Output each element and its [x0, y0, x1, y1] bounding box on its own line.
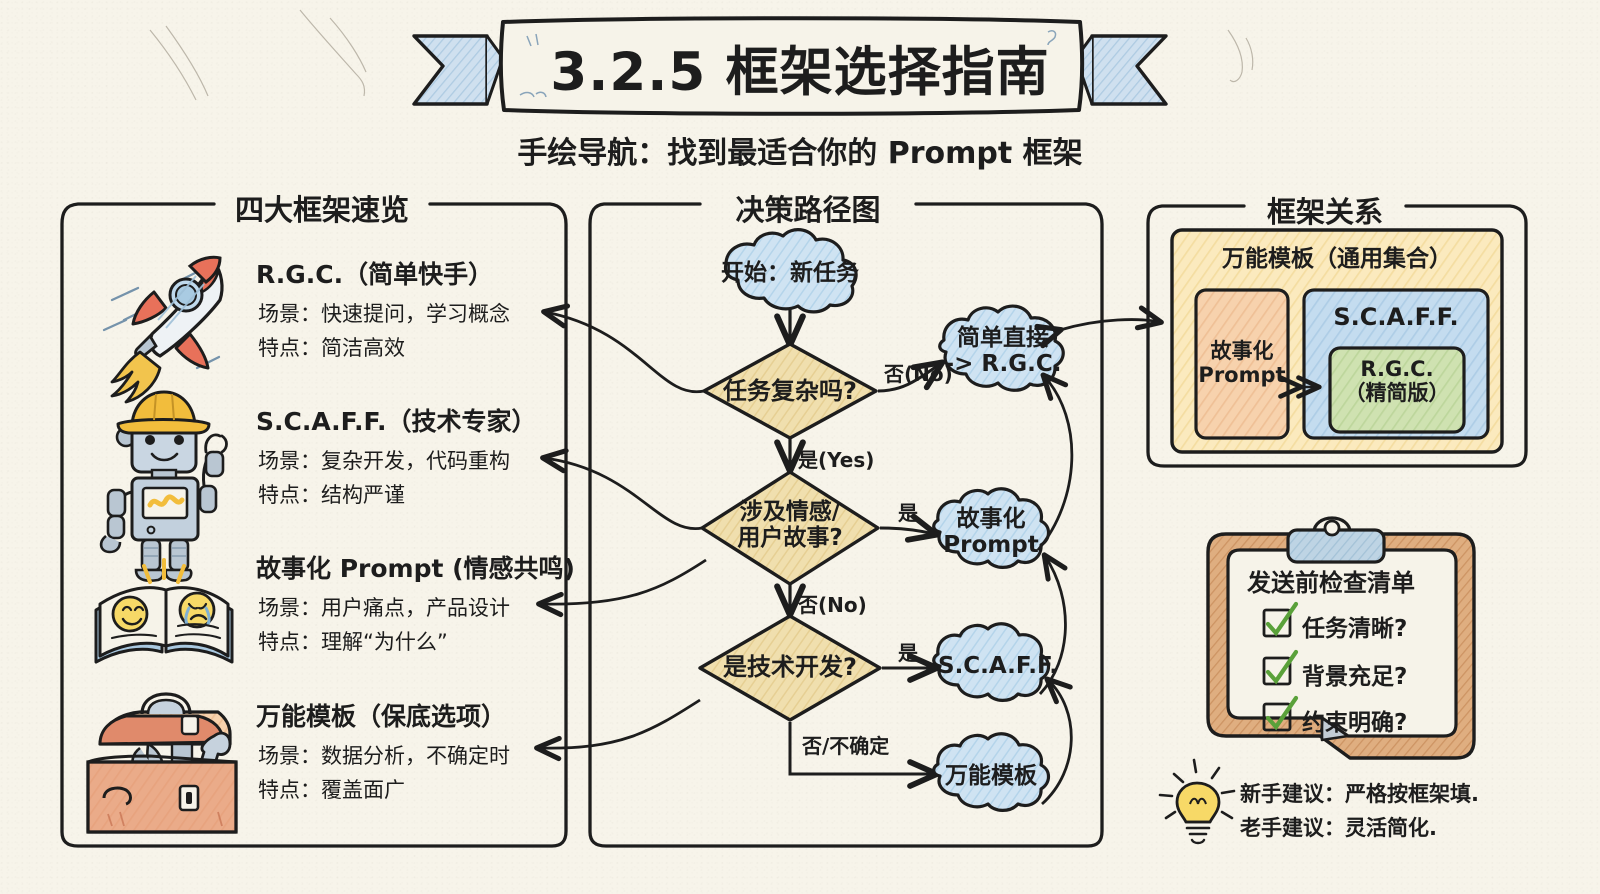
decision-1-label: 任务复杂吗? [706, 378, 874, 405]
framework-trait-rgc: 特点：简洁高效 [258, 332, 405, 362]
tip-expert: 老手建议：灵活简化. [1240, 812, 1437, 842]
outcome-rgc-line2: -> R.G.C. [944, 352, 1062, 378]
outcome-label-rgc: 简单直接 -> R.G.C. [944, 326, 1062, 378]
relation-outer-label: 万能模板（通用集合） [1176, 246, 1498, 272]
decision-3-label: 是技术开发? [702, 654, 878, 681]
relation-rgc-line1: R.G.C. [1332, 358, 1462, 382]
checklist-item-3: 约束明确? [1302, 703, 1407, 737]
edge-label-d2-no: 否(No) [798, 589, 867, 618]
framework-name-scaff: S.C.A.F.F.（技术专家） [256, 402, 536, 438]
framework-trait-story: 特点：理解“为什么” [258, 626, 448, 656]
decision-2-line1: 涉及情感/ [704, 500, 876, 526]
edge-rgc-to-relation-panel [1060, 320, 1160, 330]
framework-scene-story: 场景：用户痛点，产品设计 [258, 592, 510, 622]
edge-d2-yes-to-story [880, 528, 934, 534]
framework-trait-universal: 特点：覆盖面广 [258, 774, 405, 804]
edge-label-d1-no: 否(No) [884, 358, 953, 387]
outcome-label-universal: 万能模板 [938, 764, 1044, 790]
lightbulb-icon [1160, 760, 1234, 843]
diagram-stage: 3.2.5 框架选择指南 手绘导航：找到最适合你的 Prompt 框架 四大框架… [0, 0, 1600, 894]
checklist-title: 发送前检查清单 [1247, 563, 1415, 598]
middle-panel-title: 决策路径图 [700, 187, 916, 229]
relation-scaff-label: S.C.A.F.F. [1306, 304, 1486, 331]
decision-2-line2: 用户故事? [704, 526, 876, 552]
outcome-label-story: 故事化 Prompt [940, 507, 1042, 559]
framework-trait-scaff: 特点：结构严谨 [258, 479, 405, 509]
edge-d1-to-rgc-row [545, 312, 704, 392]
outcome-story-line2: Prompt [940, 533, 1042, 559]
framework-name-story: 故事化 Prompt (情感共鸣) [256, 549, 575, 585]
decision-2-label: 涉及情感/ 用户故事? [704, 500, 876, 552]
toolbox-icon [88, 694, 236, 832]
edge-label-d3-no: 否/不确定 [802, 730, 889, 759]
checklist-item-1: 任务清晰? [1302, 609, 1407, 643]
outcome-label-scaff: S.C.A.F.F. [938, 654, 1044, 680]
edge-d2-to-scaff-row [544, 458, 702, 529]
edge-label-d3-yes: 是 [898, 637, 918, 666]
rocket-icon [104, 257, 222, 402]
framework-name-rgc: R.G.C.（简单快手） [256, 255, 493, 291]
framework-scene-universal: 场景：数据分析，不确定时 [258, 740, 510, 770]
framework-name-universal: 万能模板（保底选项） [256, 697, 506, 733]
relation-story-line2: Prompt [1192, 364, 1292, 388]
framework-scene-rgc: 场景：快速提问，学习概念 [258, 298, 510, 328]
relation-story-line1: 故事化 [1192, 340, 1292, 364]
relation-story-label: 故事化 Prompt [1192, 340, 1292, 388]
edge-label-d1-yes: 是(Yes) [798, 444, 874, 473]
relation-rgc-label: R.G.C. （精简版） [1332, 358, 1462, 406]
left-panel-title: 四大框架速览 [214, 187, 430, 229]
checklist-item-2: 背景充足? [1302, 657, 1407, 691]
edge-label-d2-yes: 是 [898, 497, 918, 526]
flow-start-label: 开始：新任务 [716, 261, 864, 287]
right-panel-title: 框架关系 [1244, 189, 1406, 231]
relation-rgc-line2: （精简版） [1332, 382, 1462, 406]
tip-novice: 新手建议：严格按框架填. [1240, 778, 1479, 808]
outcome-story-line1: 故事化 [940, 507, 1042, 533]
robot-icon [101, 392, 226, 581]
page-subtitle: 手绘导航：找到最适合你的 Prompt 框架 [0, 128, 1600, 172]
outcome-rgc-line1: 简单直接 [944, 326, 1062, 352]
edge-d3-to-universal-row [538, 700, 700, 748]
page-title: 3.2.5 框架选择指南 [0, 30, 1600, 106]
open-book-icon [96, 560, 232, 662]
framework-scene-scaff: 场景：复杂开发，代码重构 [258, 445, 510, 475]
